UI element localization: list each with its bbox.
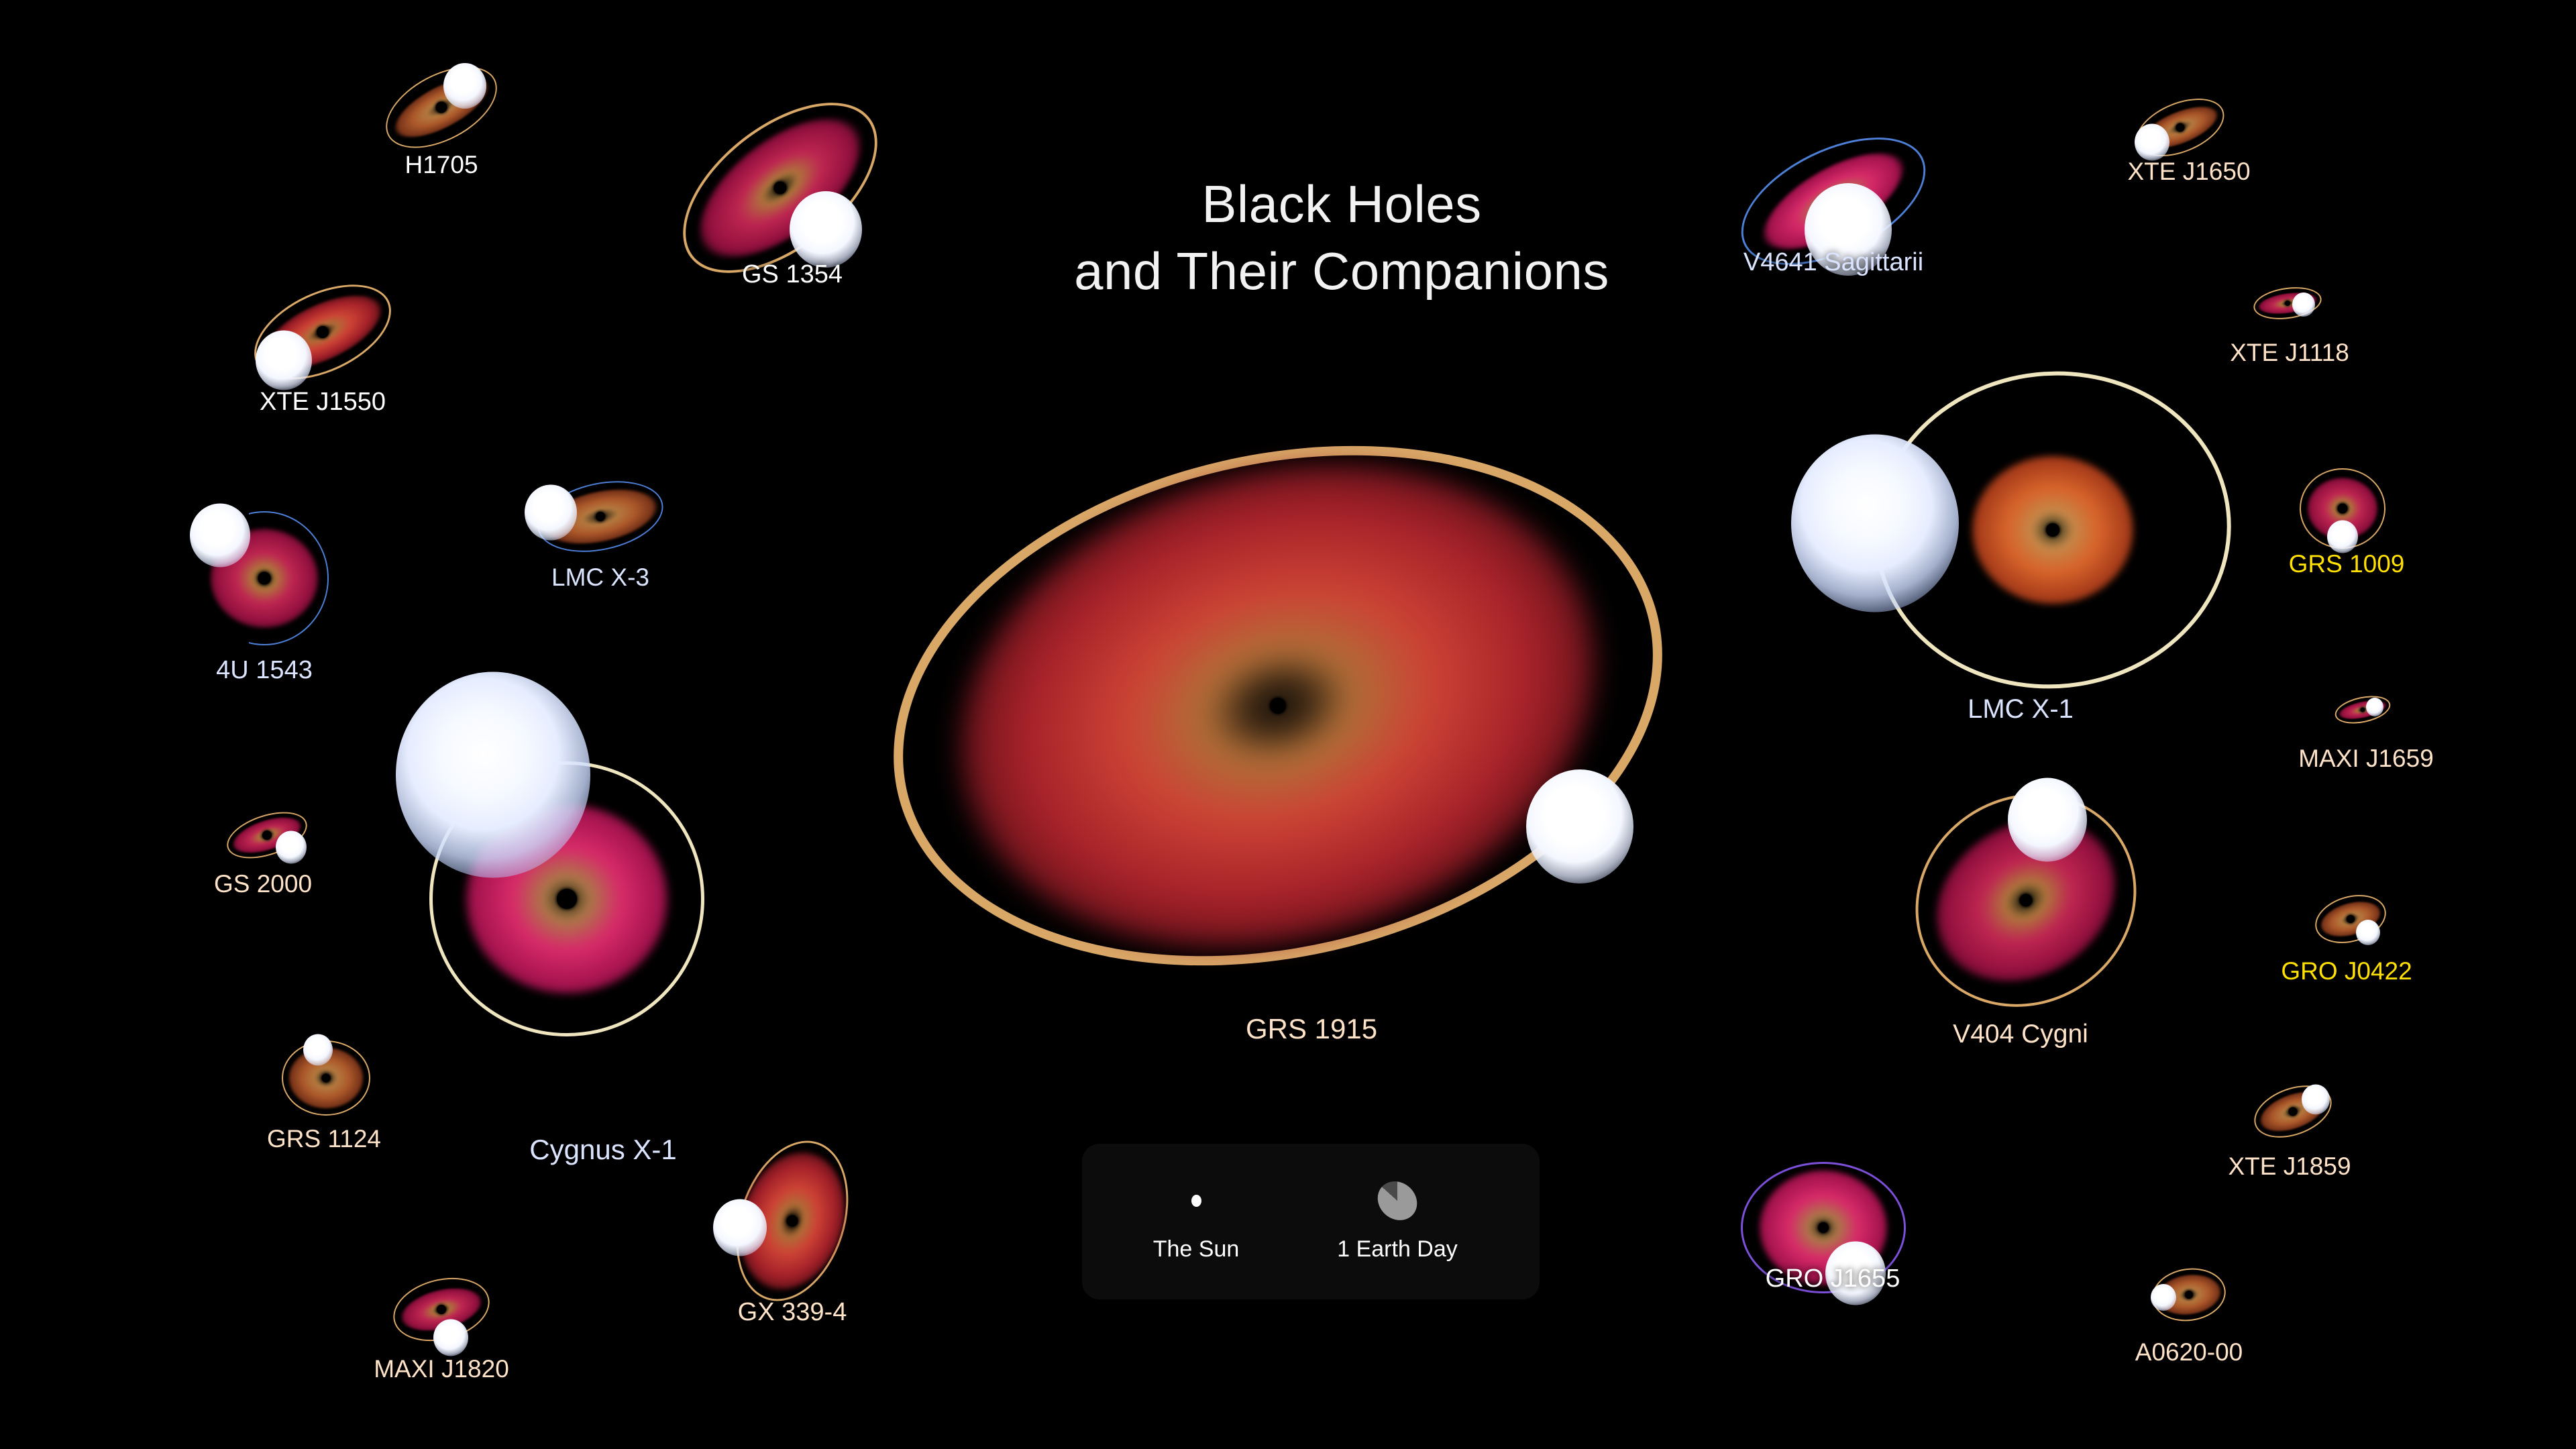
black-hole-icon (2185, 1291, 2193, 1299)
black-hole-icon (774, 182, 787, 195)
system-label-xtej1118: XTE J1118 (2230, 339, 2349, 367)
companion-star (256, 331, 312, 390)
legend-label-sun: The Sun (1122, 1236, 1270, 1263)
system-label-gs2000: GS 2000 (214, 870, 312, 898)
companion-star (2292, 292, 2315, 317)
system-label-v404: V404 Cygni (1953, 1020, 2088, 1049)
system-label-xtej1859: XTE J1859 (2228, 1152, 2351, 1181)
legend-item-sun: The Sun (1122, 1172, 1270, 1263)
sun-dot-icon (1191, 1195, 1201, 1207)
black-hole-icon (2347, 915, 2355, 923)
system-label-4u1543: 4U 1543 (216, 656, 313, 685)
system-label-grs1915: GRS 1915 (1246, 1013, 1377, 1045)
black-hole-icon (2285, 301, 2290, 306)
system-label-cygx1: Cygnus X-1 (529, 1134, 676, 1166)
black-hole-icon (1818, 1222, 1829, 1233)
black-hole-icon (2046, 523, 2059, 537)
black-hole-icon (557, 889, 577, 909)
system-label-gx339: GX 339-4 (738, 1298, 847, 1327)
companion-star (2356, 920, 2380, 945)
black-hole-icon (596, 512, 605, 521)
scale-legend-panel: The Sun 1 Earth Day (1082, 1144, 1540, 1299)
companion-star (433, 1320, 468, 1356)
companion-star (525, 485, 577, 541)
companion-star (1791, 435, 1959, 612)
system-label-grs1009: GRS 1009 (2289, 550, 2405, 578)
black-hole-icon (2361, 708, 2365, 712)
system-label-v4641: V4641 Sagittarii (1743, 248, 1923, 277)
black-hole-icon (262, 830, 272, 840)
sun-glyph (1122, 1172, 1270, 1230)
companion-star (713, 1199, 767, 1256)
black-hole-icon (2176, 123, 2185, 132)
system-label-maxij1820: MAXI J1820 (374, 1355, 509, 1383)
companion-star (2151, 1284, 2176, 1311)
companion-star (2008, 778, 2087, 862)
system-label-groj0422: GRO J0422 (2281, 957, 2412, 985)
black-hole-icon (2338, 504, 2348, 514)
black-hole-icon (2020, 894, 2033, 907)
system-label-gs1354: GS 1354 (742, 260, 843, 289)
companion-star (2135, 124, 2169, 161)
system-label-a0620: A0620-00 (2135, 1338, 2243, 1366)
system-label-lmcx3: LMC X-3 (551, 563, 649, 592)
starfield-canvas: Black Holes and Their Companions H1705GS… (0, 0, 2576, 1449)
black-hole-icon (258, 572, 271, 585)
system-label-grs1124: GRS 1124 (267, 1125, 381, 1153)
black-hole-icon (787, 1216, 798, 1227)
legend-item-earth-day: 1 Earth Day (1303, 1172, 1491, 1263)
black-hole-icon (317, 326, 329, 338)
system-label-groj1655: GRO J1655 (1766, 1265, 1900, 1293)
black-hole-icon (322, 1074, 331, 1083)
companion-star (190, 504, 250, 568)
system-label-maxij1659: MAXI J1659 (2298, 745, 2434, 773)
companion-star (396, 672, 590, 878)
black-hole-icon (1270, 698, 1286, 714)
page-title: Black Holes and Their Companions (1033, 171, 1650, 305)
earth-day-glyph (1303, 1172, 1491, 1230)
companion-star (2327, 521, 2358, 553)
companion-star (2302, 1085, 2330, 1115)
black-hole-icon (437, 1305, 446, 1314)
legend-label-earth-day: 1 Earth Day (1303, 1236, 1491, 1263)
companion-star (2366, 698, 2383, 716)
companion-star (303, 1034, 333, 1066)
companion-star (790, 191, 862, 268)
companion-star (276, 831, 307, 864)
black-hole-icon (436, 102, 447, 113)
system-label-lmcx1: LMC X-1 (1968, 694, 2074, 724)
system-label-xtej1650: XTE J1650 (2127, 158, 2250, 186)
black-hole-icon (2289, 1108, 2298, 1116)
clock-pie-icon (1370, 1173, 1425, 1228)
companion-star (443, 63, 486, 109)
companion-star (1526, 769, 1633, 883)
system-label-h1705: H1705 (405, 151, 478, 179)
system-label-xtej1550: XTE J1550 (260, 388, 386, 417)
